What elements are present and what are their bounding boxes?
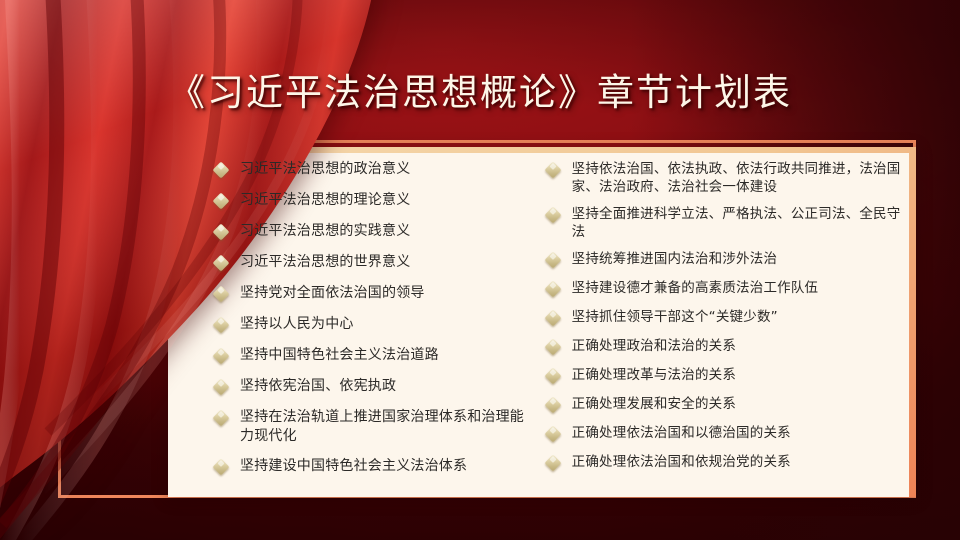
list-item[interactable]: 正确处理政治和法治的关系 <box>546 337 906 357</box>
slide-canvas: 《习近平法治思想概论》章节计划表 习近平法治思想的政治意义习近平法治思想的理论意… <box>0 0 960 540</box>
list-item-label: 坚持全面推进科学立法、严格执法、公正司法、全民守法 <box>572 205 906 241</box>
list-item[interactable]: 正确处理依法治国和依规治党的关系 <box>546 453 906 473</box>
list-item[interactable]: 习近平法治思想的世界意义 <box>214 253 534 273</box>
diamond-bullet-icon <box>546 163 563 180</box>
list-item-label: 坚持在法治轨道上推进国家治理体系和治理能力现代化 <box>240 408 534 446</box>
list-item-label: 习近平法治思想的实践意义 <box>240 222 410 241</box>
list-item-label: 习近平法治思想的理论意义 <box>240 191 410 210</box>
list-item-label: 正确处理发展和安全的关系 <box>572 395 736 413</box>
diamond-bullet-icon <box>214 460 231 477</box>
list-item[interactable]: 坚持依法治国、依法执政、依法行政共同推进，法治国家、法治政府、法治社会一体建设 <box>546 160 906 196</box>
list-item[interactable]: 习近平法治思想的实践意义 <box>214 222 534 242</box>
diamond-bullet-icon <box>214 349 231 366</box>
diamond-bullet-icon <box>546 208 563 225</box>
list-item-label: 习近平法治思想的世界意义 <box>240 253 410 272</box>
list-item-label: 坚持党对全面依法治国的领导 <box>240 284 425 303</box>
diamond-bullet-icon <box>214 411 231 428</box>
diamond-bullet-icon <box>546 456 563 473</box>
list-item-label: 坚持中国特色社会主义法治道路 <box>240 346 439 365</box>
list-item-label: 正确处理依法治国和依规治党的关系 <box>572 453 791 471</box>
diamond-bullet-icon <box>214 225 231 242</box>
list-item[interactable]: 坚持抓住领导干部这个“关键少数” <box>546 308 906 328</box>
list-item[interactable]: 坚持全面推进科学立法、严格执法、公正司法、全民守法 <box>546 205 906 241</box>
list-item-label: 坚持建设德才兼备的高素质法治工作队伍 <box>572 279 819 297</box>
diamond-bullet-icon <box>214 287 231 304</box>
chapter-list-right-column: 坚持依法治国、依法执政、依法行政共同推进，法治国家、法治政府、法治社会一体建设坚… <box>534 160 906 487</box>
list-item[interactable]: 坚持以人民为中心 <box>214 315 534 335</box>
diamond-bullet-icon <box>546 427 563 444</box>
diamond-bullet-icon <box>546 282 563 299</box>
list-item[interactable]: 习近平法治思想的理论意义 <box>214 191 534 211</box>
diamond-bullet-icon <box>214 256 231 273</box>
list-item[interactable]: 坚持统筹推进国内法治和涉外法治 <box>546 250 906 270</box>
diamond-bullet-icon <box>546 398 563 415</box>
chapter-list-left-column: 习近平法治思想的政治意义习近平法治思想的理论意义习近平法治思想的实践意义习近平法… <box>168 160 534 487</box>
list-item[interactable]: 坚持建设德才兼备的高素质法治工作队伍 <box>546 279 906 299</box>
list-item[interactable]: 正确处理发展和安全的关系 <box>546 395 906 415</box>
list-item-label: 正确处理改革与法治的关系 <box>572 366 736 384</box>
list-item[interactable]: 坚持依宪治国、依宪执政 <box>214 377 534 397</box>
diamond-bullet-icon <box>214 318 231 335</box>
list-item-label: 正确处理依法治国和以德治国的关系 <box>572 424 791 442</box>
diamond-bullet-icon <box>214 194 231 211</box>
list-item[interactable]: 坚持在法治轨道上推进国家治理体系和治理能力现代化 <box>214 408 534 446</box>
diamond-bullet-icon <box>546 369 563 386</box>
list-item-label: 坚持依宪治国、依宪执政 <box>240 377 396 396</box>
diamond-bullet-icon <box>546 311 563 328</box>
page-title: 《习近平法治思想概论》章节计划表 <box>0 62 960 116</box>
list-item[interactable]: 坚持建设中国特色社会主义法治体系 <box>214 457 534 477</box>
list-item-label: 习近平法治思想的政治意义 <box>240 160 410 179</box>
list-item[interactable]: 坚持中国特色社会主义法治道路 <box>214 346 534 366</box>
list-item-label: 正确处理政治和法治的关系 <box>572 337 736 355</box>
diamond-bullet-icon <box>546 253 563 270</box>
diamond-bullet-icon <box>546 340 563 357</box>
list-item-label: 坚持统筹推进国内法治和涉外法治 <box>572 250 778 268</box>
list-item[interactable]: 习近平法治思想的政治意义 <box>214 160 534 180</box>
list-item[interactable]: 坚持党对全面依法治国的领导 <box>214 284 534 304</box>
list-item-label: 坚持依法治国、依法执政、依法行政共同推进，法治国家、法治政府、法治社会一体建设 <box>572 160 906 196</box>
diamond-bullet-icon <box>214 163 231 180</box>
list-item[interactable]: 正确处理改革与法治的关系 <box>546 366 906 386</box>
list-item-label: 坚持抓住领导干部这个“关键少数” <box>572 308 778 326</box>
diamond-bullet-icon <box>214 380 231 397</box>
list-item[interactable]: 正确处理依法治国和以德治国的关系 <box>546 424 906 444</box>
chapter-list: 习近平法治思想的政治意义习近平法治思想的理论意义习近平法治思想的实践意义习近平法… <box>168 147 916 497</box>
list-item-label: 坚持以人民为中心 <box>240 315 354 334</box>
list-item-label: 坚持建设中国特色社会主义法治体系 <box>240 457 467 476</box>
